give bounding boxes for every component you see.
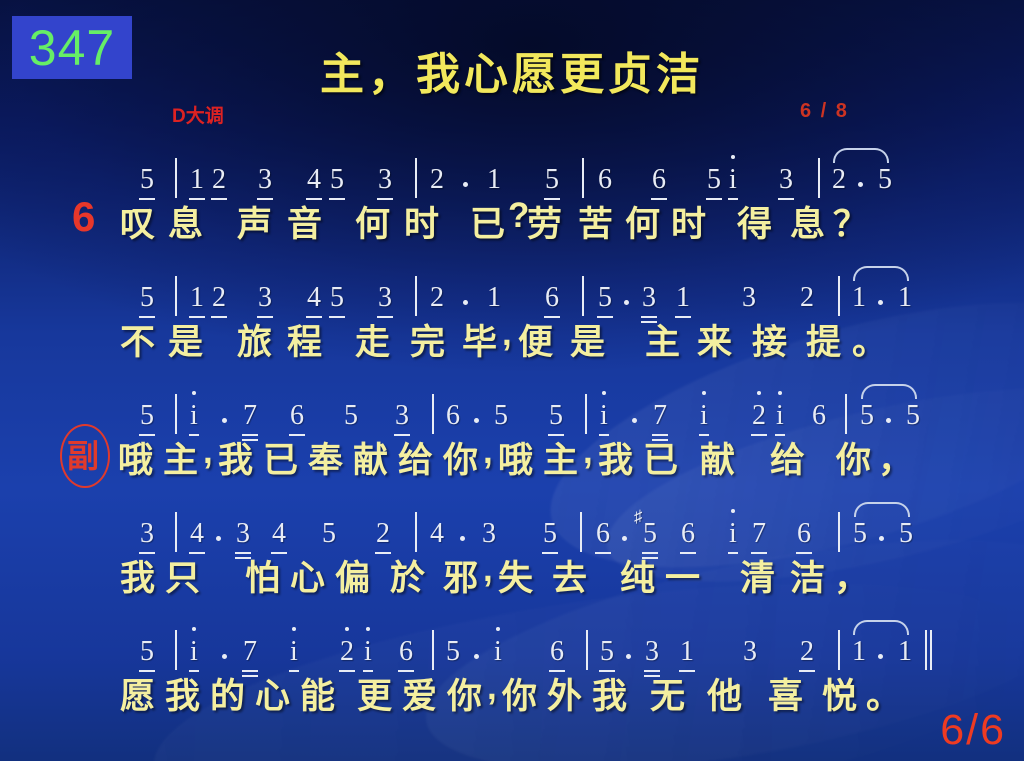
lyric-char: 毕 — [462, 314, 497, 365]
note-digit: 5 — [899, 520, 913, 548]
note: 2 — [212, 282, 226, 314]
note: 3 — [258, 282, 272, 314]
tie-arc — [853, 620, 909, 635]
note: i — [729, 164, 737, 196]
lyric-char: 何 — [355, 196, 390, 247]
note-digit: i — [600, 402, 608, 430]
note: 4 — [430, 518, 444, 550]
barline — [432, 394, 434, 434]
note-digit: 5 — [330, 166, 344, 194]
note-digit: 3 — [258, 284, 272, 312]
lyric-char: 劳 — [527, 196, 562, 247]
time-signature: 6 / 8 — [800, 100, 849, 123]
note: 6 — [290, 400, 304, 432]
lyric-char: 爱 — [402, 668, 437, 719]
note-digit: 5 — [543, 520, 557, 548]
lyric-char: 已 — [470, 196, 505, 247]
double-barline — [925, 630, 927, 670]
lyric-char: 哦 — [118, 432, 153, 483]
duration-dot — [463, 300, 468, 305]
lyric-char: 一 — [665, 550, 700, 601]
duration-dot — [632, 418, 637, 423]
note: 7 — [243, 636, 257, 668]
sharp-icon: ♯ — [634, 508, 643, 525]
duration-dot — [474, 418, 479, 423]
note: 4 — [307, 164, 321, 196]
octave-dot-icon — [345, 627, 349, 631]
lyric-char: 他 — [707, 668, 742, 719]
octave-dot-icon — [757, 391, 761, 395]
note: 7 — [752, 518, 766, 550]
note: 5 — [140, 636, 154, 668]
barline — [415, 158, 417, 198]
lyric-char: 我 — [598, 432, 633, 483]
lyric-char: 音 — [287, 196, 322, 247]
note-digit: 6 — [399, 638, 413, 666]
barline — [818, 158, 820, 198]
note: 3 — [395, 400, 409, 432]
lyric-char: 息 — [168, 196, 203, 247]
note-digit: 5 — [878, 166, 892, 194]
note: 1 — [680, 636, 694, 668]
note: i — [364, 636, 372, 668]
note-digit: 6 — [652, 166, 666, 194]
lyric-char: 。 — [852, 314, 887, 365]
tie-arc — [861, 384, 917, 399]
note-digit: i — [190, 402, 198, 430]
note-digit: 5 — [140, 638, 154, 666]
lyric-char: 便 — [518, 314, 553, 365]
lyric-char: 已 — [263, 432, 298, 483]
note-digit: 3 — [482, 520, 496, 548]
barline — [838, 630, 840, 670]
duration-dot — [886, 418, 891, 423]
note-digit: 4 — [272, 520, 286, 548]
lyric-char: 何 — [625, 196, 660, 247]
note: 1 — [190, 282, 204, 314]
note-digit: 5 — [906, 402, 920, 430]
lyric-char: , — [203, 432, 213, 472]
note-digit: 5 — [494, 402, 508, 430]
note: i — [600, 400, 608, 432]
note-digit: i — [776, 402, 784, 430]
lyric-char: 旅 — [237, 314, 272, 365]
lyric-char: 程 — [287, 314, 322, 365]
lyric-char: 献 — [700, 432, 735, 483]
note: 2 — [752, 400, 766, 432]
note-digit: 1 — [487, 166, 501, 194]
note-digit: 5 — [598, 284, 612, 312]
note: 5♯ — [643, 518, 657, 550]
lyric-row: 愿我的心能更爱你,你外我无他喜悦。 — [0, 668, 1024, 714]
lyric-char: 能 — [300, 668, 335, 719]
note-digit: 6 — [550, 638, 564, 666]
note: 2 — [430, 282, 444, 314]
note-digit: 7 — [653, 402, 667, 430]
note-digit: 5 — [853, 520, 867, 548]
note-digit: 4 — [307, 284, 321, 312]
lyric-char: 我 — [165, 668, 200, 719]
note: 6 — [550, 636, 564, 668]
note-digit: 1 — [898, 638, 912, 666]
note: 3 — [742, 282, 756, 314]
note-digit: 1 — [852, 638, 866, 666]
note: i — [190, 400, 198, 432]
note-digit: 2 — [430, 166, 444, 194]
lyric-char: , — [483, 432, 493, 472]
barline — [845, 394, 847, 434]
music-system: 5123453215665i325叹息声音何时已?劳苦何时得息？ — [0, 150, 1024, 242]
note-digit: 5 — [140, 402, 154, 430]
note: 5 — [853, 518, 867, 550]
note-digit: 2 — [832, 166, 846, 194]
note: 3 — [378, 164, 392, 196]
lyric-char: ？ — [833, 196, 868, 247]
note-digit: 3 — [642, 284, 656, 312]
lyric-char: 心 — [290, 550, 325, 601]
note: 5 — [140, 164, 154, 196]
note: 3 — [258, 164, 272, 196]
note: 5 — [446, 636, 460, 668]
note: 5 — [878, 164, 892, 196]
note-digit: 6 — [446, 402, 460, 430]
note-digit: 1 — [487, 284, 501, 312]
barline — [175, 394, 177, 434]
note: 6 — [596, 518, 610, 550]
duration-dot — [858, 182, 863, 187]
note-digit: 2 — [212, 284, 226, 312]
lyric-char: 来 — [697, 314, 732, 365]
note: 4 — [307, 282, 321, 314]
note: 6 — [545, 282, 559, 314]
note: 4 — [190, 518, 204, 550]
note: 5 — [860, 400, 874, 432]
note-digit: 4 — [190, 520, 204, 548]
octave-dot-icon — [731, 509, 735, 513]
note: 2 — [340, 636, 354, 668]
note: 5 — [543, 518, 557, 550]
octave-dot-icon — [778, 391, 782, 395]
lyric-char: , — [583, 432, 593, 472]
barline — [585, 394, 587, 434]
note-digit: 2 — [800, 284, 814, 312]
barline — [432, 630, 434, 670]
lyric-char: 叹 — [120, 196, 155, 247]
note-digit: 6 — [290, 402, 304, 430]
note-digit: 3 — [742, 284, 756, 312]
note: 3 — [743, 636, 757, 668]
note-digit: 5♯ — [643, 520, 657, 548]
key-signature: D大调 — [172, 101, 224, 128]
note: 3 — [645, 636, 659, 668]
lyric-char: 接 — [752, 314, 787, 365]
note-digit: i — [729, 166, 737, 194]
note: 3 — [236, 518, 250, 550]
note-digit: 5 — [446, 638, 460, 666]
lyric-char: 心 — [255, 668, 290, 719]
notation-row: 34345243565♯6i7655 — [0, 504, 1024, 550]
music-system: 51234532165313211不是旅程走完毕,便是主来接提。 — [0, 268, 1024, 360]
notation-row: 51234532165313211 — [0, 268, 1024, 314]
lyric-char: 主 — [645, 314, 680, 365]
note: 3 — [378, 282, 392, 314]
note: 2 — [212, 164, 226, 196]
note-digit: 2 — [752, 402, 766, 430]
lyric-char: 哦 — [498, 432, 533, 483]
note: 3 — [140, 518, 154, 550]
duration-dot — [878, 300, 883, 305]
lyric-row: 叹息声音何时已?劳苦何时得息？ — [0, 196, 1024, 242]
lyric-char: 我 — [592, 668, 627, 719]
note: 3 — [779, 164, 793, 196]
lyric-char: ， — [834, 550, 869, 601]
barline — [415, 276, 417, 316]
octave-dot-icon — [731, 155, 735, 159]
barline — [415, 512, 417, 552]
note: 6 — [446, 400, 460, 432]
note: 2 — [832, 164, 846, 196]
lyric-char: 走 — [355, 314, 390, 365]
octave-dot-icon — [366, 627, 370, 631]
note-digit: 6 — [681, 520, 695, 548]
note-digit: 3 — [743, 638, 757, 666]
note: 2 — [800, 282, 814, 314]
notation-row: 5i7653655i7i2i655 — [0, 386, 1024, 432]
lyric-char: ， — [878, 432, 913, 483]
music-system: 5i7i2i65i65313211愿我的心能更爱你,你外我无他喜悦。 — [0, 622, 1024, 714]
note: i — [290, 636, 298, 668]
duration-dot — [878, 654, 883, 659]
lyric-row: 哦主,我已奉献给你,哦主,我已献给你， — [0, 432, 1024, 478]
lyric-char: 你 — [443, 432, 478, 483]
note: 5 — [899, 518, 913, 550]
note-digit: 5 — [140, 284, 154, 312]
lyric-char: 偏 — [335, 550, 370, 601]
barline — [580, 512, 582, 552]
note: 1 — [898, 636, 912, 668]
note: 6 — [681, 518, 695, 550]
note-digit: 6 — [812, 402, 826, 430]
note-digit: 6 — [596, 520, 610, 548]
tie-arc — [833, 148, 889, 163]
lyric-char: 给 — [770, 432, 805, 483]
lyric-char: 你 — [502, 668, 537, 719]
lyric-char: 清 — [740, 550, 775, 601]
lyric-char: 奉 — [308, 432, 343, 483]
lyric-char: 失 — [498, 550, 533, 601]
lyric-char: 完 — [410, 314, 445, 365]
note: i — [776, 400, 784, 432]
lyric-char: 怕 — [245, 550, 280, 601]
note-digit: 3 — [378, 284, 392, 312]
note-digit: 2 — [800, 638, 814, 666]
note: 2 — [430, 164, 444, 196]
note-digit: 1 — [676, 284, 690, 312]
note-digit: 3 — [236, 520, 250, 548]
note-digit: 7 — [243, 402, 257, 430]
lyric-row: 我只怕心偏於邪,失去纯一清洁， — [0, 550, 1024, 596]
note-digit: 5 — [344, 402, 358, 430]
note-digit: i — [494, 638, 502, 666]
octave-dot-icon — [192, 391, 196, 395]
note-digit: 4 — [307, 166, 321, 194]
note: 1 — [852, 636, 866, 668]
note-digit: i — [190, 638, 198, 666]
note-digit: 3 — [140, 520, 154, 548]
note-digit: 1 — [190, 166, 204, 194]
page-title: 主，我心愿更贞洁 — [0, 38, 1024, 102]
note: 5 — [330, 164, 344, 196]
lyric-char: 是 — [570, 314, 605, 365]
tie-arc — [854, 502, 910, 517]
note: 6 — [652, 164, 666, 196]
note: 1 — [487, 282, 501, 314]
lyric-char: 苦 — [578, 196, 613, 247]
lyric-char: 喜 — [768, 668, 803, 719]
barline — [582, 158, 584, 198]
duration-dot — [474, 654, 479, 659]
note: 5 — [545, 164, 559, 196]
note: 1 — [190, 164, 204, 196]
note: 1 — [676, 282, 690, 314]
barline — [838, 512, 840, 552]
lyric-char: 更 — [357, 668, 392, 719]
note-digit: 6 — [598, 166, 612, 194]
lyric-char: 时 — [404, 196, 439, 247]
lyric-char: 得 — [737, 196, 772, 247]
lyric-char: 的 — [210, 668, 245, 719]
lyric-char: 邪 — [443, 550, 478, 601]
note: i — [729, 518, 737, 550]
note: 6 — [797, 518, 811, 550]
octave-dot-icon — [496, 627, 500, 631]
hymn-slide: 347 主，我心愿更贞洁 D大调 6 / 8 6 副 6/6 512345321… — [0, 0, 1024, 761]
tie-arc — [853, 266, 909, 281]
note: 6 — [812, 400, 826, 432]
octave-dot-icon — [192, 627, 196, 631]
note-digit: 5 — [549, 402, 563, 430]
music-system: 5i7653655i7i2i655哦主,我已奉献给你,哦主,我已献给你， — [0, 386, 1024, 478]
note-digit: 5 — [545, 166, 559, 194]
barline — [175, 158, 177, 198]
note-digit: 5 — [707, 166, 721, 194]
note-digit: i — [700, 402, 708, 430]
note: 5 — [600, 636, 614, 668]
note-digit: 3 — [258, 166, 272, 194]
note-digit: 7 — [243, 638, 257, 666]
note-digit: 1 — [852, 284, 866, 312]
note-digit: i — [290, 638, 298, 666]
note-digit: 2 — [340, 638, 354, 666]
lyric-char: , — [487, 668, 497, 708]
lyric-char: 愿 — [120, 668, 155, 719]
note: 5 — [707, 164, 721, 196]
note-digit: 1 — [680, 638, 694, 666]
note-digit: 2 — [212, 166, 226, 194]
music-system: 34345243565♯6i7655我只怕心偏於邪,失去纯一清洁， — [0, 504, 1024, 596]
lyric-char: 已 — [643, 432, 678, 483]
barline — [838, 276, 840, 316]
barline — [586, 630, 588, 670]
note-digit: 2 — [376, 520, 390, 548]
note: 4 — [272, 518, 286, 550]
barline — [175, 276, 177, 316]
note: 6 — [598, 164, 612, 196]
lyric-char: 。 — [866, 668, 901, 719]
lyric-char: 主 — [163, 432, 198, 483]
note-digit: 5 — [140, 166, 154, 194]
lyric-char: 於 — [390, 550, 425, 601]
lyric-char: , — [502, 314, 512, 354]
note-digit: 5 — [330, 284, 344, 312]
octave-dot-icon — [702, 391, 706, 395]
note: 1 — [898, 282, 912, 314]
lyric-char: 你 — [447, 668, 482, 719]
barline — [582, 276, 584, 316]
note: i — [700, 400, 708, 432]
note-digit: 4 — [430, 520, 444, 548]
lyric-char: 去 — [552, 550, 587, 601]
note-digit: 3 — [779, 166, 793, 194]
note: 5 — [330, 282, 344, 314]
lyric-char: 不 — [120, 314, 155, 365]
note-digit: 3 — [645, 638, 659, 666]
note: 5 — [598, 282, 612, 314]
lyric-char: 纯 — [620, 550, 655, 601]
note-digit: 1 — [898, 284, 912, 312]
lyric-char: , — [483, 550, 493, 590]
lyric-char: 我 — [120, 550, 155, 601]
note: 2 — [376, 518, 390, 550]
lyric-char: 你 — [836, 432, 871, 483]
note: 5 — [140, 282, 154, 314]
lyric-row: 不是旅程走完毕,便是主来接提。 — [0, 314, 1024, 360]
duration-dot — [222, 418, 227, 423]
note-digit: 2 — [430, 284, 444, 312]
lyric-char: 时 — [671, 196, 706, 247]
note: 7 — [243, 400, 257, 432]
lyric-char: 给 — [398, 432, 433, 483]
note: 6 — [399, 636, 413, 668]
note-digit: 5 — [860, 402, 874, 430]
lyric-char: 外 — [547, 668, 582, 719]
note: 5 — [140, 400, 154, 432]
note-digit: 1 — [190, 284, 204, 312]
duration-dot — [463, 182, 468, 187]
notation-row: 5i7i2i65i65313211 — [0, 622, 1024, 668]
note-digit: 6 — [545, 284, 559, 312]
duration-dot — [622, 536, 627, 541]
lyric-char: 悦 — [822, 668, 857, 719]
barline — [175, 512, 177, 552]
octave-dot-icon — [602, 391, 606, 395]
duration-dot — [216, 536, 221, 541]
note: i — [190, 636, 198, 668]
lyric-char: 声 — [237, 196, 272, 247]
note-digit: 7 — [752, 520, 766, 548]
note: 3 — [642, 282, 656, 314]
lyric-char: 我 — [218, 432, 253, 483]
note: 5 — [322, 518, 336, 550]
note: i — [494, 636, 502, 668]
note-digit: 3 — [395, 402, 409, 430]
note: 1 — [487, 164, 501, 196]
note-digit: 6 — [797, 520, 811, 548]
note-digit: 3 — [378, 166, 392, 194]
note: 1 — [852, 282, 866, 314]
note: 7 — [653, 400, 667, 432]
note-digit: 5 — [600, 638, 614, 666]
